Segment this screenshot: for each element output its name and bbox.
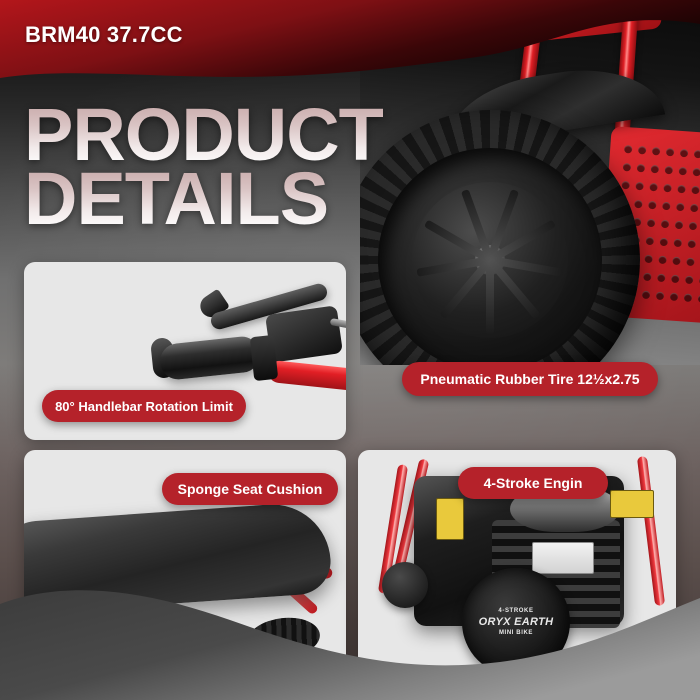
vent-hole (648, 201, 657, 210)
bottom-wave (0, 570, 700, 700)
vent-hole (643, 273, 652, 282)
vent-hole (671, 275, 680, 284)
vent-hole (692, 168, 700, 177)
vent-hole (694, 150, 700, 159)
pill-sponge-seat[interactable]: Sponge Seat Cushion (162, 473, 338, 505)
vent-hole (672, 257, 681, 266)
vent-hole (657, 274, 666, 283)
vent-hole (658, 256, 667, 265)
pill-handlebar-rotation[interactable]: 80° Handlebar Rotation Limit (42, 390, 246, 422)
vent-hole (642, 291, 651, 300)
pill-pneumatic-tire[interactable]: Pneumatic Rubber Tire 12½x2.75 (402, 362, 658, 396)
handlebar-grip (158, 335, 261, 381)
vent-hole (649, 183, 658, 192)
vent-hole (675, 221, 684, 230)
warning-sticker (610, 490, 654, 518)
vent-hole (651, 165, 660, 174)
vent-hole (662, 202, 671, 211)
vent-hole (684, 294, 693, 303)
wheel-rim (412, 182, 568, 338)
start-run-sticker (436, 498, 464, 540)
heading-line-2: DETAILS (24, 167, 383, 231)
vent-hole (647, 219, 656, 228)
vent-hole (670, 293, 679, 302)
vent-hole (666, 148, 675, 157)
vent-hole (689, 222, 698, 231)
vent-hole (623, 163, 632, 172)
vent-hole (687, 240, 696, 249)
vent-hole (677, 185, 686, 194)
header-banner: BRM40 37.7CC (0, 0, 700, 96)
vent-hole (652, 147, 661, 156)
vent-hole (690, 204, 699, 213)
vent-hole (635, 182, 644, 191)
wheel-spoke (486, 260, 494, 334)
vent-hole (624, 145, 633, 154)
vent-hole (634, 200, 643, 209)
vent-hole (621, 181, 630, 190)
vent-hole (691, 186, 700, 195)
vent-hole (660, 238, 669, 247)
vent-hole (665, 166, 674, 175)
section-heading: PRODUCT DETAILS (24, 103, 383, 230)
vent-hole (679, 167, 688, 176)
brake-lever-housing (265, 305, 343, 363)
page-title: BRM40 37.7CC (25, 22, 183, 48)
grip-collar (250, 335, 278, 381)
vent-hole (661, 220, 670, 229)
product-details-infographic: BRM40 37.7CC PRODUCT DETAILS (0, 0, 700, 700)
vent-hole (637, 164, 646, 173)
vent-hole (674, 239, 683, 248)
vent-hole (686, 258, 695, 267)
vent-hole (644, 255, 653, 264)
vent-hole (685, 276, 694, 285)
vent-hole (663, 184, 672, 193)
vent-hole (646, 237, 655, 246)
pill-four-stroke-engine[interactable]: 4-Stroke Engin (458, 467, 608, 499)
vent-hole (680, 149, 689, 158)
handlebar-tube (267, 360, 346, 394)
vent-hole (638, 146, 647, 155)
vent-hole (656, 292, 665, 301)
vent-hole (676, 203, 685, 212)
